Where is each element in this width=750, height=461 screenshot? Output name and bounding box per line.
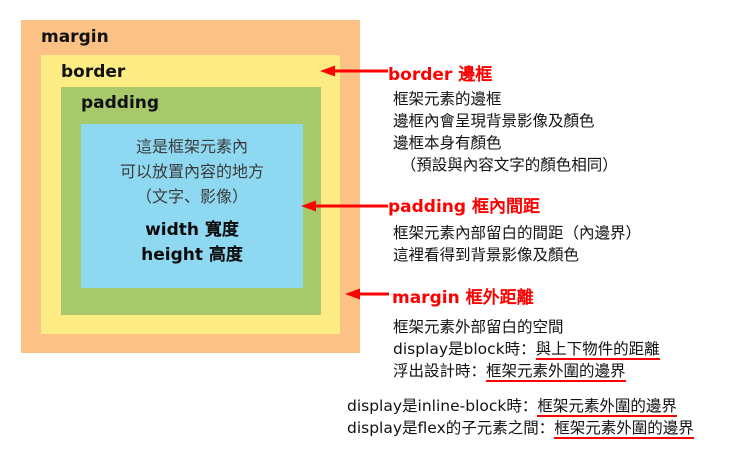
border-pointer-arrow xyxy=(320,64,388,78)
content-width-label: width 寬度 xyxy=(81,209,303,243)
content-text-line: （文字、影像） xyxy=(81,184,303,209)
annotation-line: 框架元素外部留白的空間 xyxy=(393,316,660,338)
border-annotation-body: 框架元素的邊框 邊框內會呈現背景影像及顏色 邊框本身有顏色 （預設與內容文字的顏… xyxy=(393,88,618,176)
annotation-text: 浮出設計時： xyxy=(393,362,486,380)
margin-pointer-arrow xyxy=(345,287,389,301)
annotation-line: display是flex的子元素之間：框架元素外圍的邊界 xyxy=(347,417,694,439)
content-text-line: 這是框架元素內 xyxy=(81,124,303,159)
annotation-line: display是inline-block時：框架元素外圍的邊界 xyxy=(347,395,694,417)
padding-annotation-heading: padding 框內間距 xyxy=(388,192,540,217)
content-layer: 這是框架元素內 可以放置內容的地方 （文字、影像） width 寬度 heigh… xyxy=(81,124,303,288)
margin-layer-label: margin xyxy=(41,27,109,47)
content-text-line: 可以放置內容的地方 xyxy=(81,159,303,184)
annotation-line: 這裡看得到背景影像及顏色 xyxy=(393,244,641,266)
padding-layer-label: padding xyxy=(81,93,159,113)
padding-pointer-arrow xyxy=(301,199,388,213)
annotation-line: 框架元素的邊框 xyxy=(393,88,618,110)
border-layer: border padding 這是框架元素內 可以放置內容的地方 （文字、影像）… xyxy=(41,55,340,334)
annotation-underlined-text: 框架元素外圍的邊界 xyxy=(486,362,626,382)
annotation-underlined-text: 與上下物件的距離 xyxy=(536,340,660,360)
border-layer-label: border xyxy=(61,62,125,82)
margin-annotation-body: 框架元素外部留白的空間 display是block時：與上下物件的距離 浮出設計… xyxy=(393,316,660,382)
annotation-line: 框架元素內部留白的間距（內邊界） xyxy=(393,222,641,244)
annotation-line: display是block時：與上下物件的距離 xyxy=(393,338,660,360)
annotation-underlined-text: 框架元素外圍的邊界 xyxy=(554,419,694,439)
extra-annotation-body: display是inline-block時：框架元素外圍的邊界 display是… xyxy=(347,395,694,439)
annotation-text: display是flex的子元素之間： xyxy=(347,419,554,437)
border-annotation-heading: border 邊框 xyxy=(388,60,492,85)
margin-annotation-heading: margin 框外距離 xyxy=(392,283,534,308)
box-model-diagram: margin border padding 這是框架元素內 可以放置內容的地方 … xyxy=(21,20,360,353)
annotation-text: display是block時： xyxy=(393,340,536,358)
annotation-line: 浮出設計時：框架元素外圍的邊界 xyxy=(393,360,660,382)
content-height-label: height 高度 xyxy=(81,243,303,268)
padding-layer: padding 這是框架元素內 可以放置內容的地方 （文字、影像） width … xyxy=(61,87,321,315)
annotation-underlined-text: 框架元素外圍的邊界 xyxy=(537,397,677,417)
annotation-text: display是inline-block時： xyxy=(347,397,537,415)
annotation-line: 邊框內會呈現背景影像及顏色 xyxy=(393,110,618,132)
annotation-line: 邊框本身有顏色 xyxy=(393,132,618,154)
padding-annotation-body: 框架元素內部留白的間距（內邊界） 這裡看得到背景影像及顏色 xyxy=(393,222,641,266)
annotation-line: （預設與內容文字的顏色相同） xyxy=(393,154,618,176)
